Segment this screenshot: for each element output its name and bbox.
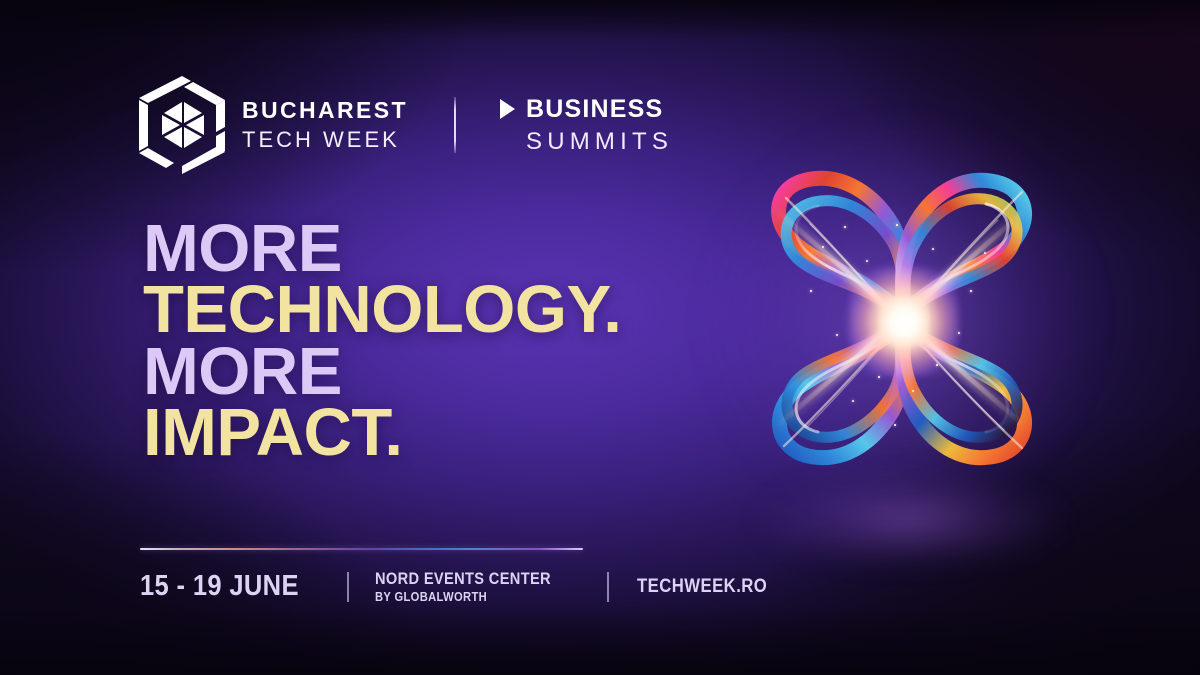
venue-name: NORD EVENTS CENTER	[375, 569, 551, 588]
logo-lockup: BUCHAREST TECH WEEK BUSINESS SUMMITS	[136, 76, 673, 174]
edge-shade-top	[0, 0, 1200, 40]
gradient-divider-rule	[140, 548, 583, 550]
footer-block: 15 - 19 JUNE NORD EVENTS CENTER BY GLOBA…	[140, 548, 785, 605]
event-venue: NORD EVENTS CENTER BY GLOBALWORTH	[375, 569, 551, 605]
business-summits-wordmark: BUSINESS SUMMITS	[500, 97, 673, 154]
edge-shade-bottom	[0, 605, 1200, 675]
brand-line-2: TECH WEEK	[242, 129, 408, 151]
play-triangle-icon	[500, 99, 515, 119]
brand-line-1: BUCHAREST	[242, 99, 408, 122]
brand-wordmark: BUCHAREST TECH WEEK	[242, 99, 408, 151]
bucharest-tech-week-hexagon-logo[interactable]	[136, 76, 228, 174]
sparkle-particles	[726, 128, 1076, 508]
partner-line-2: SUMMITS	[526, 130, 673, 154]
lockup-divider	[454, 97, 456, 153]
partner-line-1: BUSINESS	[526, 97, 663, 122]
headline-block: MORE TECHNOLOGY. MORE IMPACT.	[143, 218, 621, 463]
headline-line-1: MORE	[143, 218, 621, 279]
footer-separator-2	[607, 572, 609, 602]
headline-line-4: IMPACT.	[143, 402, 621, 463]
venue-sponsor: BY GLOBALWORTH	[375, 590, 551, 605]
event-website[interactable]: TECHWEEK.RO	[637, 576, 767, 598]
artwork-container	[726, 128, 1076, 508]
event-promo-banner: BUCHAREST TECH WEEK BUSINESS SUMMITS MOR…	[0, 0, 1200, 675]
headline-line-2: TECHNOLOGY.	[143, 279, 621, 340]
footer-info-row: 15 - 19 JUNE NORD EVENTS CENTER BY GLOBA…	[140, 569, 785, 605]
footer-separator-1	[347, 572, 349, 602]
event-dates: 15 - 19 JUNE	[140, 570, 299, 603]
headline-line-3: MORE	[143, 341, 621, 402]
